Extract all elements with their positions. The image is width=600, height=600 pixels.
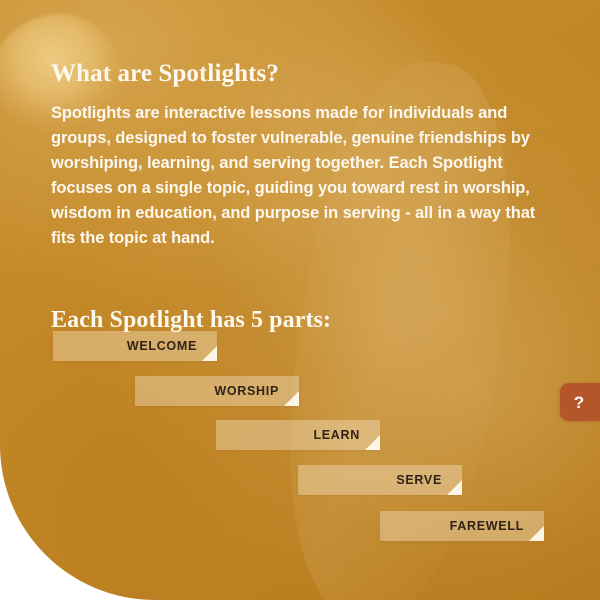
step-label: WELCOME xyxy=(53,331,197,361)
corner-notch-icon xyxy=(529,526,544,541)
step-label: FAREWELL xyxy=(380,511,524,541)
text-content-block: What are Spotlights? Spotlights are inte… xyxy=(51,0,561,334)
step-bar-worship[interactable]: WORSHIP xyxy=(135,376,299,406)
spotlight-parts-staircase: WELCOME WORSHIP LEARN SERVE FAREWELL xyxy=(0,331,600,546)
description-paragraph: Spotlights are interactive lessons made … xyxy=(51,89,547,251)
step-label: LEARN xyxy=(216,420,360,450)
spotlight-info-panel: What are Spotlights? Spotlights are inte… xyxy=(0,0,600,600)
page-title: What are Spotlights? xyxy=(51,0,561,89)
gold-card-background: What are Spotlights? Spotlights are inte… xyxy=(0,0,600,600)
corner-notch-icon xyxy=(284,391,299,406)
step-bar-serve[interactable]: SERVE xyxy=(298,465,462,495)
step-label: SERVE xyxy=(298,465,442,495)
step-bar-welcome[interactable]: WELCOME xyxy=(53,331,217,361)
corner-notch-icon xyxy=(202,346,217,361)
corner-notch-icon xyxy=(447,480,462,495)
help-button[interactable]: ? xyxy=(560,383,600,421)
question-mark-icon: ? xyxy=(574,394,586,411)
step-label: WORSHIP xyxy=(135,376,279,406)
corner-notch-icon xyxy=(365,435,380,450)
parts-heading: Each Spotlight has 5 parts: xyxy=(51,251,561,334)
step-bar-learn[interactable]: LEARN xyxy=(216,420,380,450)
step-bar-farewell[interactable]: FAREWELL xyxy=(380,511,544,541)
